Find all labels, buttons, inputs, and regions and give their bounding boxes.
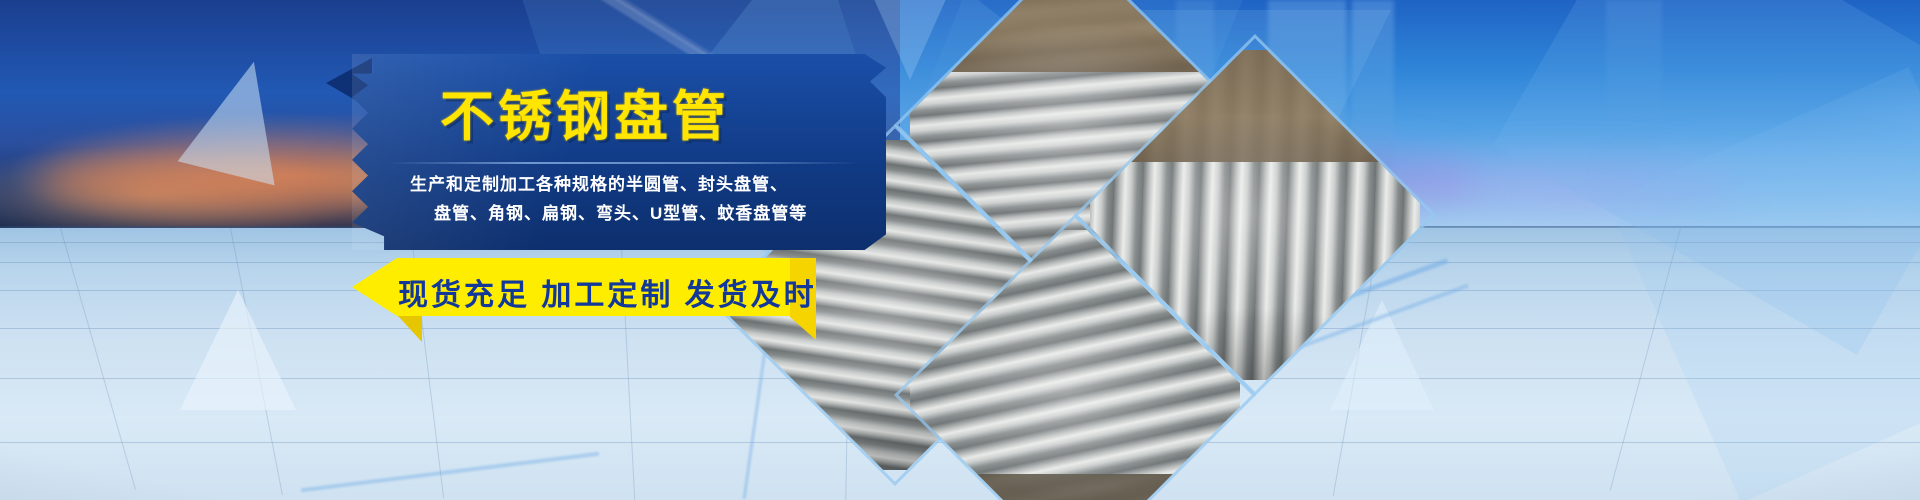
product-image-collage <box>820 0 1440 500</box>
subtitle-line-2: 盘管、角钢、扁钢、弯头、U型管、蚊香盘管等 <box>434 199 807 224</box>
product-hero-banner: 不锈钢盘管 生产和定制加工各种规格的半圆管、封头盘管、 盘管、角钢、扁钢、弯头、… <box>0 0 1920 500</box>
slogan-text: 现货充足 加工定制 发货及时 <box>398 270 817 314</box>
subtitle-line-1: 生产和定制加工各种规格的半圆管、封头盘管、 <box>410 170 788 195</box>
ribbon-divider <box>388 162 858 164</box>
page-title: 不锈钢盘管 <box>440 90 730 144</box>
city-tower <box>1606 0 1662 150</box>
